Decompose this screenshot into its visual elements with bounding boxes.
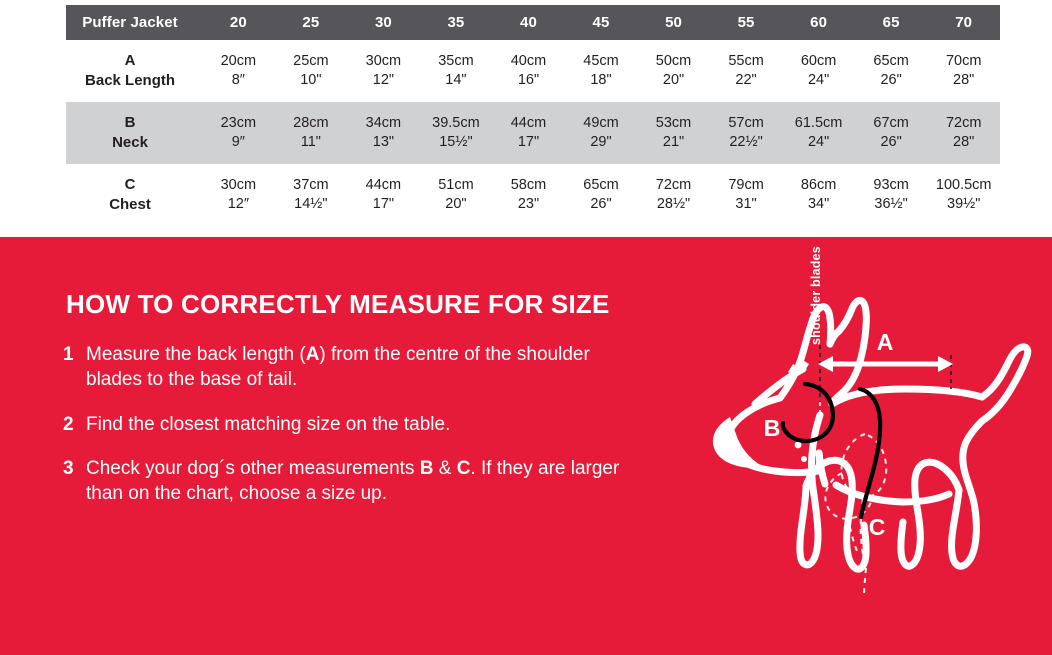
measurement-inch: 29" xyxy=(565,133,638,152)
table-header-size-55: 55 xyxy=(710,5,783,40)
measure-step: 2Find the closest matching size on the t… xyxy=(63,412,623,437)
table-cell: 28cm11" xyxy=(275,102,348,164)
measurement-inch: 11" xyxy=(275,133,348,152)
row-name: Chest xyxy=(66,195,194,215)
step-text: Check your dog´s other measurements B & … xyxy=(86,458,619,504)
measurement-cm: 58cm xyxy=(492,176,565,195)
table-cell: 44cm17" xyxy=(347,164,420,226)
measurement-inch: 28" xyxy=(927,71,1000,90)
measurement-cm: 44cm xyxy=(492,114,565,133)
measurement-inch: 24" xyxy=(782,133,855,152)
table-cell: 45cm18" xyxy=(565,40,638,102)
dog-eye-dot-2 xyxy=(801,456,807,462)
table-cell: 72cm28½" xyxy=(637,164,710,226)
measurement-cm: 49cm xyxy=(565,114,638,133)
table-cell: 50cm20" xyxy=(637,40,710,102)
row-letter: B xyxy=(66,113,194,133)
size-chart-page: Puffer Jacket 2025303540455055606570 ABa… xyxy=(0,0,1052,655)
table-cell: 70cm28" xyxy=(927,40,1000,102)
measurement-cm: 65cm xyxy=(565,176,638,195)
measurement-inch: 34" xyxy=(782,195,855,214)
measurement-inch: 26" xyxy=(855,71,928,90)
table-cell: 60cm24" xyxy=(782,40,855,102)
measurement-cm: 20cm xyxy=(202,52,275,71)
measurement-inch: 26" xyxy=(855,133,928,152)
row-label-a: ABack Length xyxy=(66,40,202,102)
size-table-section: Puffer Jacket 2025303540455055606570 ABa… xyxy=(0,0,1052,237)
measurement-inch: 18" xyxy=(565,71,638,90)
measurement-inch: 20" xyxy=(637,71,710,90)
measure-step: 1Measure the back length (A) from the ce… xyxy=(63,342,623,393)
measurement-inch: 36½" xyxy=(855,195,928,214)
table-row: ABack Length20cm8″25cm10"30cm12"35cm14"4… xyxy=(66,40,1000,102)
row-label-b: BNeck xyxy=(66,102,202,164)
measure-steps-list: 1Measure the back length (A) from the ce… xyxy=(63,342,623,525)
size-table: Puffer Jacket 2025303540455055606570 ABa… xyxy=(66,5,1000,226)
table-cell: 35cm14" xyxy=(420,40,493,102)
table-cell: 72cm28" xyxy=(927,102,1000,164)
table-row: CChest30cm12″37cm14½"44cm17"51cm20"58cm2… xyxy=(66,164,1000,226)
measurement-cm: 60cm xyxy=(782,52,855,71)
step-text-run: Measure the back length ( xyxy=(86,344,306,365)
measurement-inch: 22" xyxy=(710,71,783,90)
table-cell: 30cm12" xyxy=(347,40,420,102)
table-header-size-65: 65 xyxy=(855,5,928,40)
measurement-inch: 23" xyxy=(492,195,565,214)
table-header-size-45: 45 xyxy=(565,5,638,40)
measurement-cm: 45cm xyxy=(565,52,638,71)
measurement-cm: 30cm xyxy=(202,176,275,195)
step-number: 3 xyxy=(63,456,74,481)
table-header-size-60: 60 xyxy=(782,5,855,40)
table-cell: 25cm10" xyxy=(275,40,348,102)
row-label-c: CChest xyxy=(66,164,202,226)
how-to-measure-panel: HOW TO CORRECTLY MEASURE FOR SIZE 1Measu… xyxy=(0,237,1052,655)
table-cell: 67cm26" xyxy=(855,102,928,164)
size-table-header: Puffer Jacket 2025303540455055606570 xyxy=(66,5,1000,40)
measurement-cm: 100.5cm xyxy=(927,176,1000,195)
table-cell: 86cm34" xyxy=(782,164,855,226)
measurement-inch: 9″ xyxy=(202,133,275,152)
measurement-inch: 10" xyxy=(275,71,348,90)
size-table-header-row: Puffer Jacket 2025303540455055606570 xyxy=(66,5,1000,40)
table-cell: 65cm26" xyxy=(565,164,638,226)
table-cell: 93cm36½" xyxy=(855,164,928,226)
measurement-cm: 67cm xyxy=(855,114,928,133)
measurement-inch: 31" xyxy=(710,195,783,214)
table-cell: 79cm31" xyxy=(710,164,783,226)
table-cell: 39.5cm15½" xyxy=(420,102,493,164)
step-text: Measure the back length (A) from the cen… xyxy=(86,344,590,390)
step-text-emphasis: C xyxy=(457,458,471,479)
measurement-inch: 15½" xyxy=(420,133,493,152)
measurement-inch: 28" xyxy=(927,133,1000,152)
table-cell: 44cm17" xyxy=(492,102,565,164)
table-header-size-20: 20 xyxy=(202,5,275,40)
measurement-cm: 37cm xyxy=(275,176,348,195)
measurement-cm: 25cm xyxy=(275,52,348,71)
table-header-size-50: 50 xyxy=(637,5,710,40)
measurement-cm: 28cm xyxy=(275,114,348,133)
measurement-cm: 72cm xyxy=(637,176,710,195)
how-to-measure-heading: HOW TO CORRECTLY MEASURE FOR SIZE xyxy=(66,289,610,320)
measurement-cm: 50cm xyxy=(637,52,710,71)
measurement-cm: 65cm xyxy=(855,52,928,71)
table-cell: 30cm12″ xyxy=(202,164,275,226)
step-text-run: & xyxy=(433,458,456,479)
table-header-size-70: 70 xyxy=(927,5,1000,40)
measurement-inch: 28½" xyxy=(637,195,710,214)
measurement-cm: 70cm xyxy=(927,52,1000,71)
table-header-size-25: 25 xyxy=(275,5,348,40)
table-cell: 23cm9″ xyxy=(202,102,275,164)
table-cell: 55cm22" xyxy=(710,40,783,102)
measurement-cm: 53cm xyxy=(637,114,710,133)
row-name: Back Length xyxy=(66,71,194,91)
table-cell: 100.5cm39½" xyxy=(927,164,1000,226)
shoulder-blades-label: shoulder blades xyxy=(809,246,823,345)
measurement-inch: 13" xyxy=(347,133,420,152)
table-header-size-35: 35 xyxy=(420,5,493,40)
label-c: C xyxy=(869,514,886,540)
measurement-cm: 40cm xyxy=(492,52,565,71)
measurement-cm: 72cm xyxy=(927,114,1000,133)
step-text-emphasis: B xyxy=(420,458,434,479)
measurement-inch: 24" xyxy=(782,71,855,90)
measurement-cm: 51cm xyxy=(420,176,493,195)
label-a: A xyxy=(877,329,894,355)
measurement-cm: 39.5cm xyxy=(420,114,493,133)
measurement-cm: 55cm xyxy=(710,52,783,71)
table-cell: 51cm20" xyxy=(420,164,493,226)
step-number: 1 xyxy=(63,342,74,367)
back-length-arrow xyxy=(818,356,953,372)
table-header-size-40: 40 xyxy=(492,5,565,40)
step-text-run: Check your dog´s other measurements xyxy=(86,458,420,479)
table-cell: 20cm8″ xyxy=(202,40,275,102)
measurement-cm: 35cm xyxy=(420,52,493,71)
measurement-inch: 12″ xyxy=(202,195,275,214)
dog-measurement-diagram: shoulder blades A B C xyxy=(620,237,1052,655)
measurement-inch: 20" xyxy=(420,195,493,214)
measurement-cm: 93cm xyxy=(855,176,928,195)
table-cell: 65cm26" xyxy=(855,40,928,102)
measurement-inch: 39½" xyxy=(927,195,1000,214)
table-header-size-30: 30 xyxy=(347,5,420,40)
table-cell: 40cm16" xyxy=(492,40,565,102)
table-cell: 34cm13" xyxy=(347,102,420,164)
size-table-body: ABack Length20cm8″25cm10"30cm12"35cm14"4… xyxy=(66,40,1000,226)
neck-measure-line xyxy=(783,384,833,441)
measurement-inch: 21" xyxy=(637,133,710,152)
row-letter: C xyxy=(66,175,194,195)
step-text: Find the closest matching size on the ta… xyxy=(86,414,450,435)
measurement-inch: 12" xyxy=(347,71,420,90)
measurement-inch: 17" xyxy=(492,133,565,152)
measurement-inch: 14" xyxy=(420,71,493,90)
row-letter: A xyxy=(66,51,194,71)
measurement-cm: 30cm xyxy=(347,52,420,71)
step-number: 2 xyxy=(63,412,74,437)
measurement-inch: 17" xyxy=(347,195,420,214)
measurement-cm: 57cm xyxy=(710,114,783,133)
table-cell: 61.5cm24" xyxy=(782,102,855,164)
table-cell: 57cm22½" xyxy=(710,102,783,164)
table-row: BNeck23cm9″28cm11"34cm13"39.5cm15½"44cm1… xyxy=(66,102,1000,164)
table-cell: 49cm29" xyxy=(565,102,638,164)
row-name: Neck xyxy=(66,133,194,153)
measurement-inch: 22½" xyxy=(710,133,783,152)
table-header-product-label: Puffer Jacket xyxy=(66,5,202,40)
step-text-run: Find the closest matching size on the ta… xyxy=(86,414,450,435)
measurement-cm: 23cm xyxy=(202,114,275,133)
measure-step: 3Check your dog´s other measurements B &… xyxy=(63,456,623,507)
label-b: B xyxy=(764,415,781,441)
measurement-inch: 8″ xyxy=(202,71,275,90)
measurement-cm: 34cm xyxy=(347,114,420,133)
measurement-cm: 61.5cm xyxy=(782,114,855,133)
table-cell: 53cm21" xyxy=(637,102,710,164)
measurement-inch: 14½" xyxy=(275,195,348,214)
measurement-cm: 44cm xyxy=(347,176,420,195)
table-cell: 37cm14½" xyxy=(275,164,348,226)
measurement-inch: 26" xyxy=(565,195,638,214)
measurement-cm: 86cm xyxy=(782,176,855,195)
measurement-inch: 16" xyxy=(492,71,565,90)
step-text-emphasis: A xyxy=(306,344,320,365)
measurement-cm: 79cm xyxy=(710,176,783,195)
dog-diagram-svg: shoulder blades A B C xyxy=(620,237,1052,655)
table-cell: 58cm23" xyxy=(492,164,565,226)
